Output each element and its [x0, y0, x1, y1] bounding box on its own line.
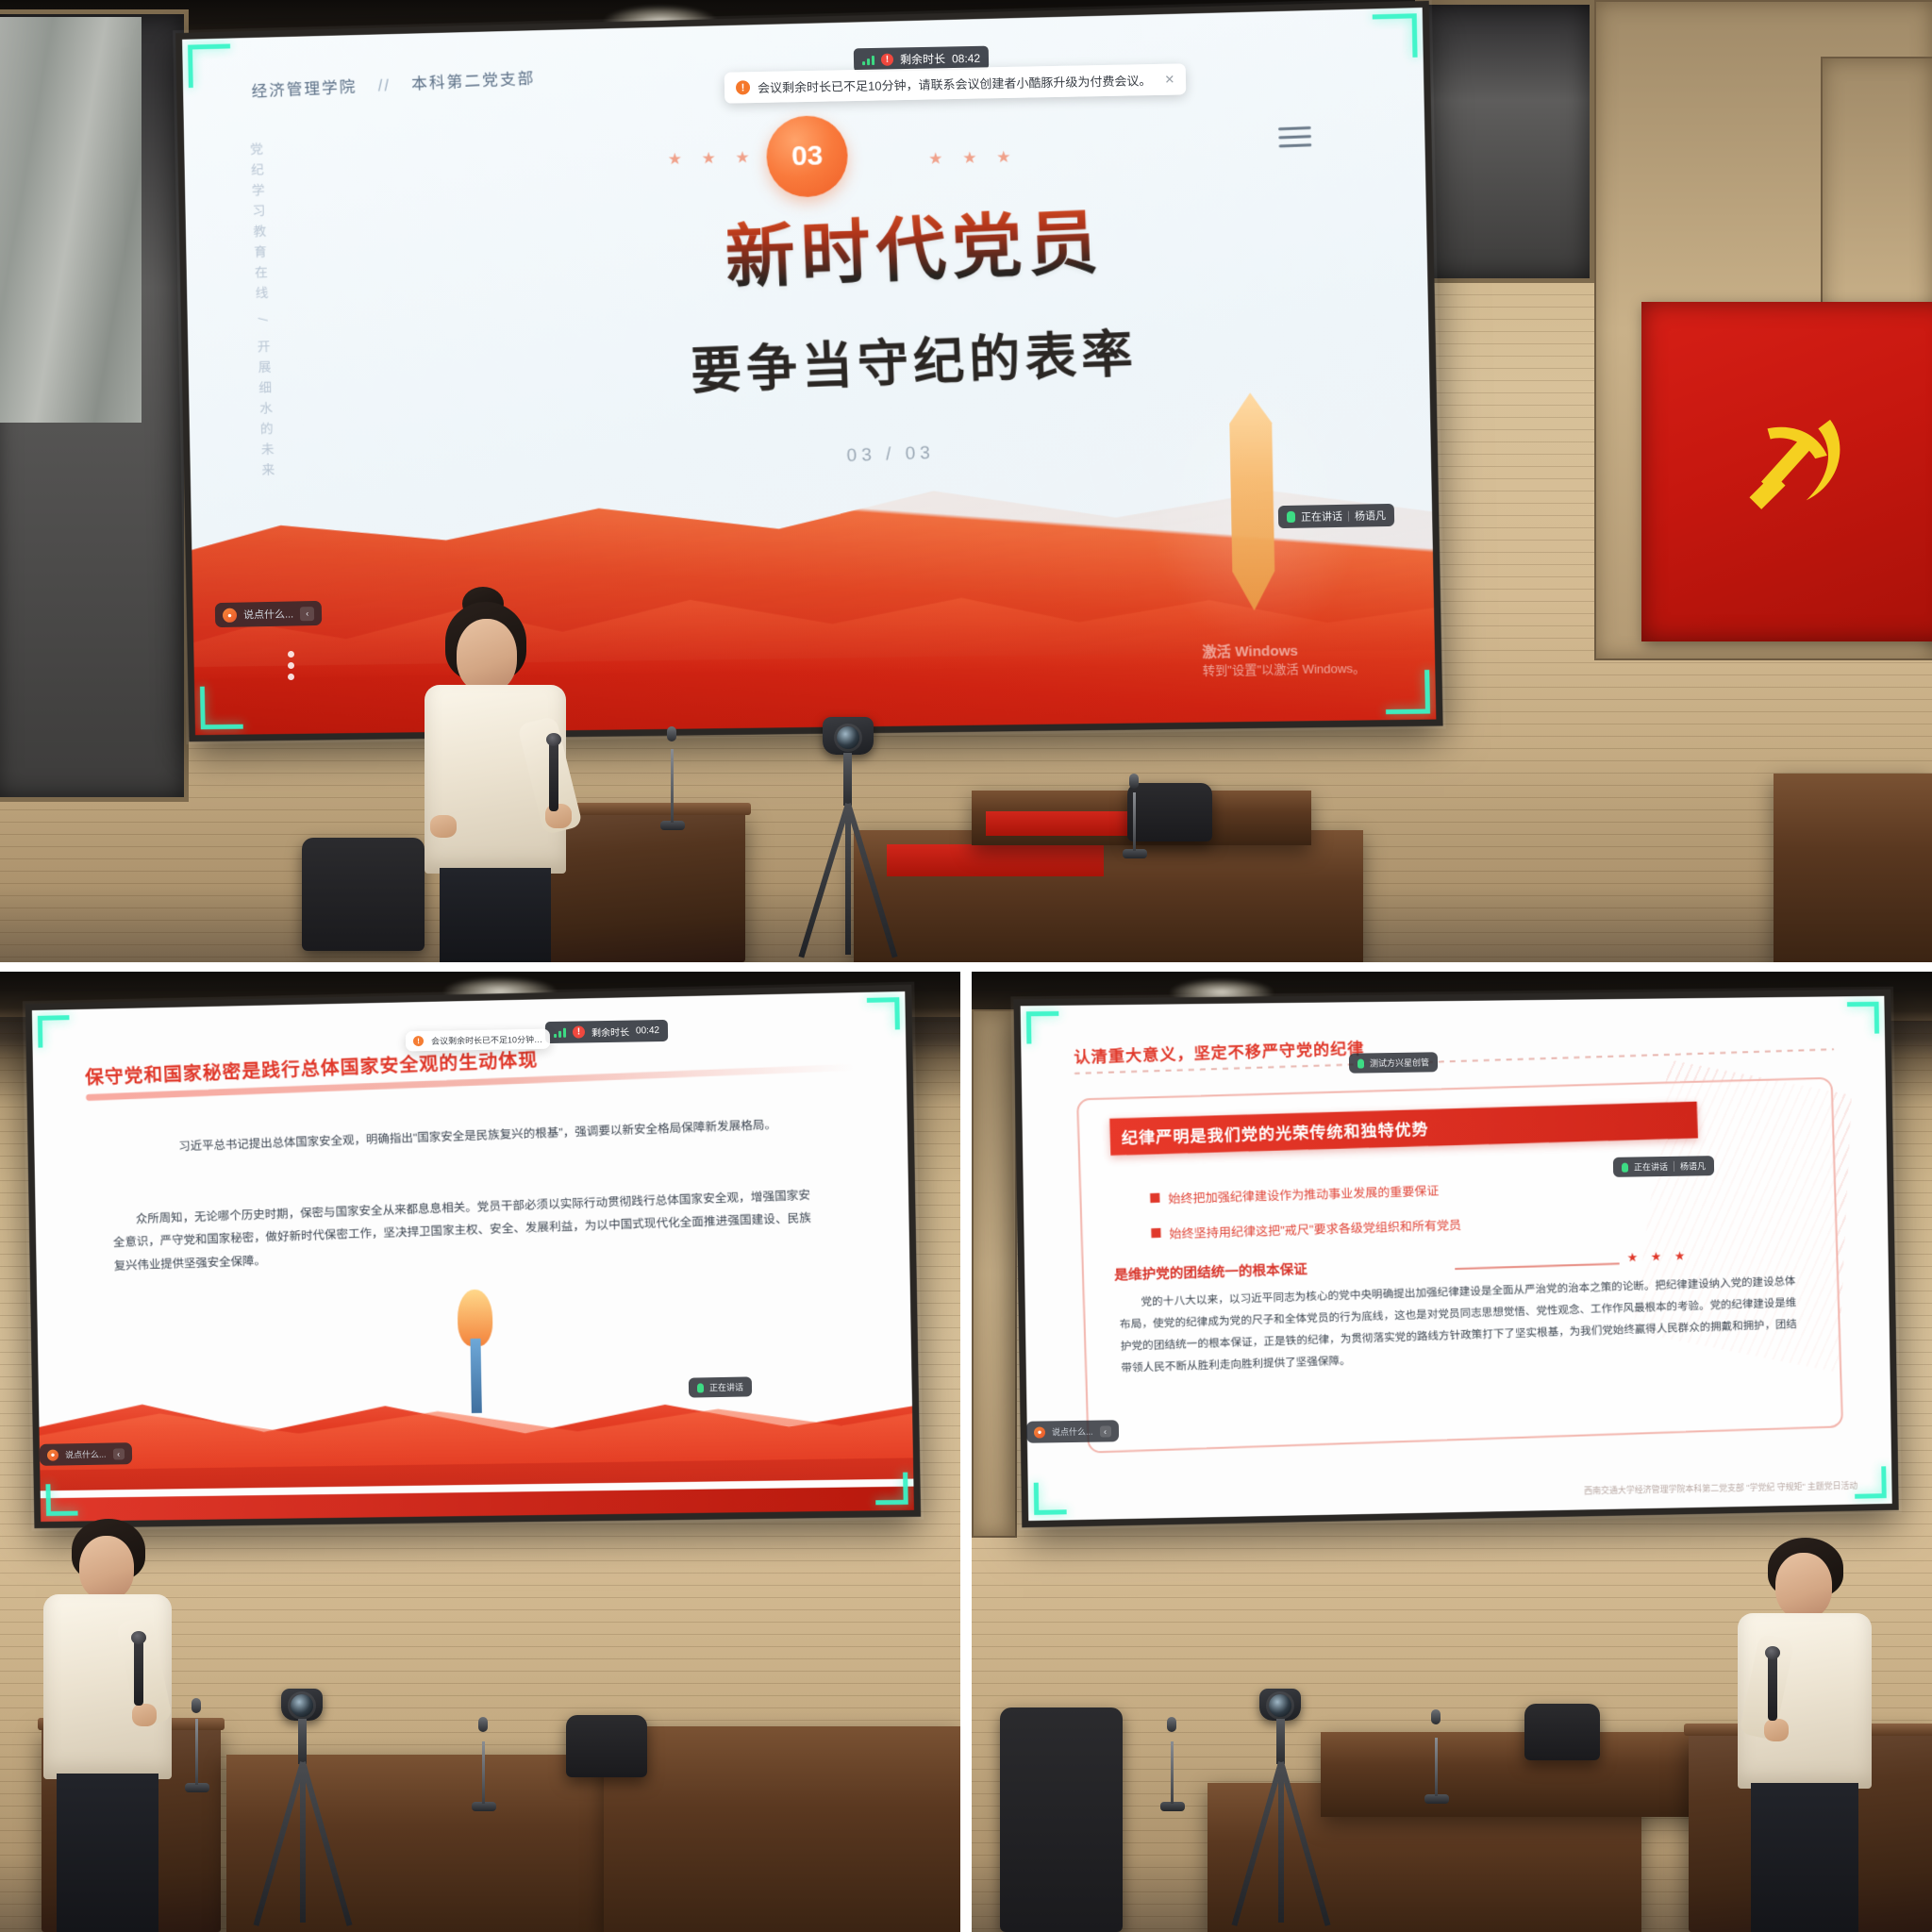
close-icon[interactable]: ✕ [1164, 72, 1174, 87]
slide-title: 新时代党员 [724, 185, 1106, 302]
slide-paragraph-1: 习近平总书记提出总体国家安全观，明确指出"国家安全是民族复兴的根基"，强调要以新… [155, 1112, 802, 1159]
slide-bottom-bar [41, 1487, 914, 1522]
windows-watermark-line2: 转到"设置"以激活 Windows。 [1203, 661, 1366, 677]
hand-right [1764, 1719, 1789, 1741]
camera-tripod [783, 717, 934, 962]
tripod-leg [1232, 1761, 1284, 1926]
avatar: ● [47, 1449, 58, 1460]
active-speaker-chip[interactable]: 正在讲话 [689, 1376, 752, 1397]
chip-divider [1348, 510, 1349, 521]
chat-placeholder: 说点什么... [243, 606, 293, 622]
camera-tripod [253, 1689, 385, 1932]
avatar: ● [223, 608, 237, 622]
mic-head [1431, 1709, 1441, 1724]
screen-corner-bottom-left-icon [1034, 1482, 1067, 1515]
bullet-square-icon [1151, 1228, 1160, 1238]
chat-input-bar[interactable]: ● 说点什么... ‹ [40, 1442, 132, 1466]
handheld-microphone [1768, 1655, 1777, 1721]
head [457, 619, 517, 692]
timer-label: 剩余时长 [900, 51, 945, 68]
bottom-left-presentation-photo: 保守党和国家秘密是践行总体国家安全观的生动体现 习近平总书记提出总体国家安全观，… [0, 972, 960, 1932]
projector-screen: 认清重大意义，坚定不移严守党的纪律 纪律严明是我们党的光荣传统和独特优势 始终把… [1013, 990, 1898, 1528]
screen-corner-bottom-right-icon [1385, 670, 1430, 714]
torch-artwork [444, 1289, 508, 1413]
hand-right [132, 1704, 157, 1726]
ptz-camera [1259, 1689, 1301, 1721]
desk-microphone-2 [1123, 774, 1151, 858]
desk-microphone-2 [472, 1717, 500, 1811]
tripod-leg [1278, 1761, 1330, 1926]
sub-heading: 是维护党的团结统一的根本保证 [1113, 1258, 1307, 1285]
mic-stem [195, 1719, 198, 1785]
screen-corner-top-left-icon [38, 1015, 70, 1047]
meeting-top-chip[interactable]: 测试方兴星创管 [1349, 1052, 1438, 1073]
slide-paragraph-2: 众所周知，无论哪个历史时期，保密与国家安全从来都息息相关。党员干部必须以实际行动… [112, 1184, 812, 1277]
warning-icon: ! [736, 80, 750, 94]
timer-value: 08:42 [952, 51, 980, 65]
chat-input-bar[interactable]: ● 说点什么... ‹ [215, 601, 323, 627]
speaker-name: 杨语凡 [1680, 1159, 1706, 1172]
title-slide: 经济管理学院 // 本科第二党支部 党纪学习教育在线 / 开展细水的未来 ★ ★… [182, 8, 1436, 735]
speaker-status: 正在讲话 [1301, 508, 1342, 525]
chat-input-bar[interactable]: ● 说点什么... ‹ [1026, 1420, 1119, 1443]
slide-header-unit: 本科第二党支部 [411, 70, 536, 93]
handheld-microphone [549, 741, 558, 811]
ptz-camera [281, 1689, 323, 1721]
signal-icon [554, 1027, 566, 1038]
side-wall-window-right [1415, 0, 1594, 283]
desk-microphone [1160, 1717, 1189, 1811]
signal-icon [862, 55, 874, 65]
warning-icon: ! [413, 1036, 424, 1046]
hammer-sickle-emblem [1723, 383, 1872, 546]
chair-second [1524, 1704, 1600, 1760]
seal-artwork [1125, 329, 1384, 675]
toast-message: 会议剩余时长已不足10分钟… [431, 1033, 542, 1047]
screen-corner-bottom-left-icon [45, 1484, 77, 1516]
timer-label: 剩余时长 [591, 1024, 629, 1040]
red-banner-heading: 纪律严明是我们党的光荣传统和独特优势 [1109, 1102, 1698, 1156]
right-desk [604, 1726, 960, 1932]
meeting-warning-toast[interactable]: ! 会议剩余时长已不足10分钟… [406, 1029, 550, 1052]
body-paragraph: 党的十八大以来，以习近平同志为核心的党中央明确提出加强纪律建设是全面从严治党的治… [1118, 1271, 1797, 1379]
content-slide-right: 认清重大意义，坚定不移严守党的纪律 纪律严明是我们党的光荣传统和独特优势 始终把… [1021, 996, 1892, 1521]
head [1775, 1553, 1832, 1619]
chat-placeholder: 说点什么... [1052, 1425, 1093, 1439]
chat-placeholder: 说点什么... [65, 1448, 107, 1461]
screen-corner-top-right-icon [867, 997, 900, 1030]
record-dot-icon: ! [881, 54, 893, 66]
section-number-badge: 03 [766, 115, 849, 198]
mic-stem [671, 749, 674, 823]
desk-microphone [660, 726, 689, 830]
slide-title-band: 认清重大意义，坚定不移严守党的纪律 [1074, 1020, 1835, 1074]
windows-activation-watermark: 激活 Windows 转到"设置"以激活 Windows。 [1202, 641, 1365, 680]
microphone-icon [697, 1383, 704, 1392]
slide-subtitle: 要争当守纪的表率 [689, 311, 1138, 404]
tripod-leg [1278, 1762, 1284, 1923]
meeting-timer-pill[interactable]: ! 剩余时长 00:42 [545, 1020, 668, 1043]
ptz-camera [823, 717, 874, 755]
lower-body [1751, 1783, 1858, 1932]
seal-shape [1162, 391, 1343, 612]
speaker-status: 正在讲话 [709, 1381, 743, 1394]
screen-corner-bottom-left-icon [200, 686, 243, 729]
desk-microphone-2 [1424, 1709, 1453, 1804]
avatar: ● [1034, 1426, 1045, 1438]
presenter-person [406, 594, 613, 962]
tripod-leg [300, 1762, 306, 1923]
camera-tripod [1231, 1689, 1363, 1932]
slide-header-org: 经济管理学院 [251, 78, 358, 101]
projector-screen: 保守党和国家秘密是践行总体国家安全观的生动体现 习近平总书记提出总体国家安全观，… [25, 985, 921, 1528]
party-flag [1641, 302, 1932, 641]
record-dot-icon: ! [573, 1025, 585, 1038]
tripod-leg [254, 1761, 306, 1926]
mic-head [192, 1698, 201, 1713]
tripod-leg [845, 804, 851, 955]
microphone-icon [1622, 1162, 1628, 1172]
slide-vertical-text: 党纪学习教育在线 / 开展细水的未来 [244, 142, 281, 484]
chair [566, 1715, 647, 1777]
more-options-dots[interactable] [288, 651, 294, 680]
menu-icon[interactable] [1277, 121, 1311, 154]
mic-stem [1171, 1741, 1174, 1804]
screen-corner-top-left-icon [1026, 1011, 1059, 1044]
tripod-leg [300, 1761, 352, 1926]
mic-stem [482, 1741, 485, 1804]
mic-head [1167, 1717, 1176, 1732]
screen-corner-top-right-icon [1847, 1002, 1879, 1034]
stars-right: ★ ★ ★ [928, 147, 1019, 168]
tripod-column [843, 753, 852, 806]
content-card: 纪律严明是我们党的光荣传统和独特优势 始终把加强纪律建设作为推动事业发展的重要保… [1076, 1077, 1843, 1454]
page-indicator: 03 / 03 [846, 442, 935, 466]
torch-stick [471, 1339, 482, 1413]
top-presentation-photo: 经济管理学院 // 本科第二党支部 党纪学习教育在线 / 开展细水的未来 ★ ★… [0, 0, 1932, 962]
mic-stem [1133, 792, 1136, 851]
chip-divider [1674, 1161, 1674, 1172]
bullet-square-icon [1149, 1193, 1158, 1203]
collapse-icon[interactable]: ‹ [300, 607, 314, 621]
lower-body [57, 1774, 158, 1932]
lower-body [440, 868, 551, 962]
timer-value: 00:42 [636, 1025, 659, 1036]
slide-footer-note: 西南交通大学经济管理学院本科第二党支部 "学党纪 守规矩" 主题党日活动 [1584, 1479, 1857, 1497]
mic-head [1129, 774, 1139, 789]
screen-corner-bottom-right-icon [1855, 1466, 1887, 1498]
active-speaker-chip[interactable]: 正在讲话 杨语凡 [1278, 504, 1394, 528]
mic-head [667, 726, 676, 741]
stars-left: ★ ★ ★ [668, 148, 758, 169]
bottom-right-presentation-photo: 认清重大意义，坚定不移严守党的纪律 纪律严明是我们党的光荣传统和独特优势 始终把… [972, 972, 1932, 1932]
collapse-icon[interactable]: ‹ [112, 1448, 124, 1459]
screen-corner-top-right-icon [1373, 13, 1418, 58]
mic-head [478, 1717, 488, 1732]
tripod-column [298, 1719, 307, 1764]
toast-message: 会议剩余时长已不足10分钟，请联系会议创建者小酷豚升级为付费会议。 [758, 71, 1152, 96]
bullet-text: 始终把加强纪律建设作为推动事业发展的重要保证 [1167, 1181, 1439, 1207]
tripod-leg [845, 803, 897, 958]
top-chip-label: 测试方兴星创管 [1370, 1056, 1429, 1069]
hand-left [430, 815, 457, 838]
desk-microphone [185, 1698, 213, 1792]
microphone-icon [1357, 1058, 1364, 1068]
chair [1000, 1707, 1123, 1932]
collapse-icon[interactable]: ‹ [1099, 1425, 1110, 1437]
screen-corner-bottom-right-icon [875, 1473, 908, 1506]
bullet-item: 始终坚持用纪律这把"戒尺"要求各级党组织和所有党员 [1150, 1215, 1460, 1242]
content-slide-left: 保守党和国家秘密是践行总体国家安全观的生动体现 习近平总书记提出总体国家安全观，… [32, 991, 914, 1522]
speaker-status: 正在讲话 [1634, 1160, 1668, 1174]
presenter-person [28, 1519, 198, 1932]
handheld-microphone [134, 1640, 143, 1706]
bullet-item: 始终把加强纪律建设作为推动事业发展的重要保证 [1149, 1181, 1439, 1207]
wall-panel-left [972, 1009, 1017, 1538]
tripod-column [1276, 1719, 1285, 1764]
photo-collage: 经济管理学院 // 本科第二党支部 党纪学习教育在线 / 开展细水的未来 ★ ★… [0, 0, 1932, 1932]
microphone-icon [1287, 511, 1295, 523]
bullet-text: 始终坚持用纪律这把"戒尺"要求各级党组织和所有党员 [1169, 1215, 1461, 1242]
stars-decoration: ★ ★ ★ [1626, 1248, 1690, 1265]
tripod-leg [798, 803, 850, 958]
head [79, 1536, 134, 1600]
slide-header-separator: // [377, 76, 391, 94]
active-speaker-chip[interactable]: 正在讲话 杨语凡 [1613, 1156, 1714, 1177]
windows-watermark-line1: 激活 Windows [1202, 641, 1365, 663]
projector-screen: 经济管理学院 // 本科第二党支部 党纪学习教育在线 / 开展细水的未来 ★ ★… [175, 1, 1443, 741]
presenter-person [1726, 1538, 1896, 1932]
mic-stem [1435, 1738, 1438, 1796]
sub-heading-rule [1455, 1262, 1620, 1270]
screen-corner-top-left-icon [188, 43, 231, 88]
side-table-right [1774, 774, 1932, 962]
window-curtain [0, 17, 142, 423]
slide-header: 经济管理学院 // 本科第二党支部 [251, 65, 536, 102]
speaker-name: 杨语凡 [1355, 508, 1386, 524]
